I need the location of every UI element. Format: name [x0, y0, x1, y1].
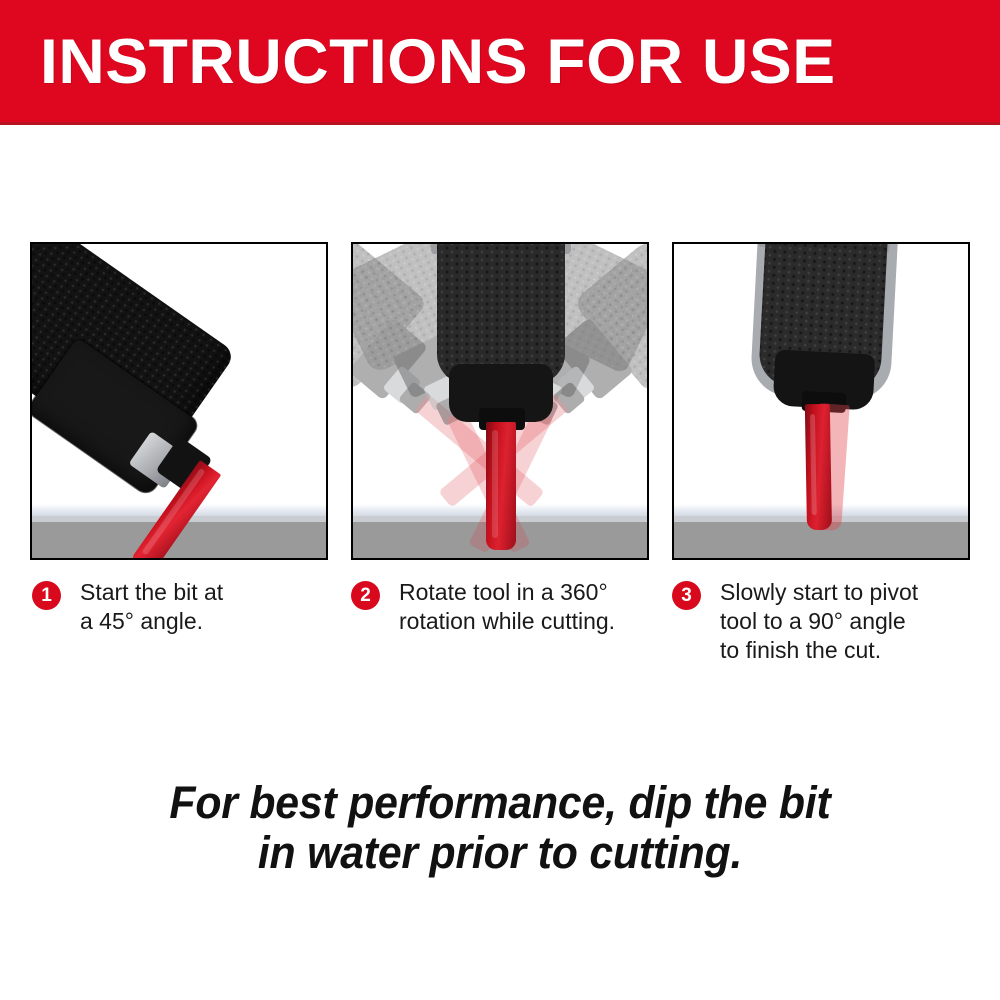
step-caption-2-text: Rotate tool in a 360° rotation while cut… — [399, 578, 649, 636]
step-badge-1: 1 — [32, 581, 61, 610]
header-underline — [0, 122, 1000, 125]
step-caption-2-line-2: rotation while cutting. — [399, 607, 649, 636]
cutting-bit — [805, 404, 832, 530]
tagline: For best performance, dip the bit in wat… — [73, 778, 928, 878]
step-captions: 1 Start the bit at a 45° angle. 2 Rotate… — [30, 578, 970, 688]
bit-highlight — [810, 414, 817, 515]
step-badge-3: 3 — [672, 581, 701, 610]
step-1-illustration — [30, 242, 328, 560]
step-caption-3-line-3: to finish the cut. — [720, 636, 970, 665]
illustration-panel-row — [30, 242, 970, 562]
step-caption-3-line-2: tool to a 90° angle — [720, 607, 970, 636]
tool-grip-body — [437, 242, 565, 384]
step-3-illustration — [672, 242, 970, 560]
step-caption-1-text: Start the bit at a 45° angle. — [80, 578, 330, 636]
step-2-illustration — [351, 242, 649, 560]
header-banner: INSTRUCTIONS FOR USE — [0, 0, 1000, 122]
bit-highlight — [492, 430, 498, 538]
step-caption-3-text: Slowly start to pivot tool to a 90° angl… — [720, 578, 970, 665]
tagline-line-2: in water prior to cutting. — [73, 828, 928, 878]
tagline-line-1: For best performance, dip the bit — [73, 778, 928, 828]
step-caption-1-line-1: Start the bit at — [80, 578, 330, 607]
step-badge-2: 2 — [351, 581, 380, 610]
page-title: INSTRUCTIONS FOR USE — [40, 26, 984, 98]
step-caption-1-line-2: a 45° angle. — [80, 607, 330, 636]
step-caption-2-line-1: Rotate tool in a 360° — [399, 578, 649, 607]
grip-texture — [437, 242, 565, 384]
step-caption-3-line-1: Slowly start to pivot — [720, 578, 970, 607]
cutting-bit — [486, 422, 516, 550]
